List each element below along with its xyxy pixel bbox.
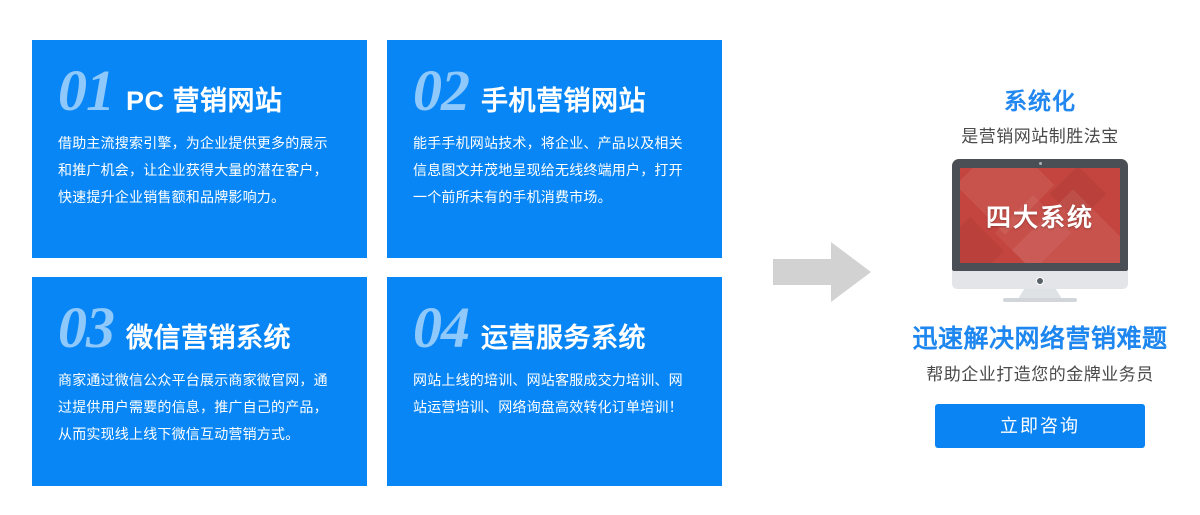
monitor-bezel: 四大系统 [952,159,1128,271]
feature-card-03[interactable]: 03 微信营销系统 商家通过微信公众平台展示商家微官网，通过提供用户需要的信息，… [32,277,367,486]
panel-title: 系统化 [880,90,1200,113]
feature-card-description: 借助主流搜索引擎，为企业提供更多的展示和推广机会，让企业获得大量的潜在客户，快速… [58,130,341,211]
promo-banner: 01 PC 营销网站 借助主流搜索引擎，为企业提供更多的展示和推广机会，让企业获… [0,0,1200,515]
feature-card-description: 能手手机网站技术，将企业、产品以及相关信息图文并茂地呈现给无线终端用户，打开一个… [413,130,696,211]
feature-card-title: 手机营销网站 [481,88,646,115]
feature-card-number: 02 [413,62,469,120]
webcam-icon [1039,162,1042,165]
monitor-screen: 四大系统 [960,168,1120,263]
monitor-logo-icon [1036,277,1044,285]
feature-card-header: 02 手机营销网站 [413,62,696,120]
feature-card-number: 01 [58,62,114,120]
feature-card-number: 04 [413,299,469,357]
feature-card-title: 运营服务系统 [481,325,646,352]
feature-card-header: 03 微信营销系统 [58,299,341,357]
feature-card-title: 微信营销系统 [126,325,291,352]
monitor-illustration-wrap: 四大系统 [880,159,1200,309]
consult-now-button[interactable]: 立即咨询 [935,404,1145,448]
feature-card-description: 商家通过微信公众平台展示商家微官网，通过提供用户需要的信息，推广自己的产品，从而… [58,367,341,448]
feature-card-number: 03 [58,299,114,357]
feature-card-description: 网站上线的培训、网站客服成交力培训、网站运营培训、网络询盘高效转化订单培训！ [413,367,696,421]
arrow-right-icon [773,242,871,302]
feature-card-header: 01 PC 营销网站 [58,62,341,120]
feature-cards-grid: 01 PC 营销网站 借助主流搜索引擎，为企业提供更多的展示和推广机会，让企业获… [32,40,722,486]
feature-card-header: 04 运营服务系统 [413,299,696,357]
feature-card-02[interactable]: 02 手机营销网站 能手手机网站技术，将企业、产品以及相关信息图文并茂地呈现给无… [387,40,722,258]
feature-card-title: PC 营销网站 [126,88,283,115]
feature-card-04[interactable]: 04 运营服务系统 网站上线的培训、网站客服成交力培训、网站运营培训、网络询盘高… [387,277,722,486]
monitor-stand-base [1003,298,1077,302]
right-panel: 系统化 是营销网站制胜法宝 四大系统 迅速解决网络营销难 [880,40,1200,486]
panel-subtitle: 是营销网站制胜法宝 [880,128,1200,145]
desktop-monitor-icon: 四大系统 [952,159,1128,301]
feature-card-01[interactable]: 01 PC 营销网站 借助主流搜索引擎，为企业提供更多的展示和推广机会，让企业获… [32,40,367,258]
panel-headline: 迅速解决网络营销难题 [880,327,1200,352]
monitor-screen-text: 四大系统 [986,198,1094,234]
panel-tagline: 帮助企业打造您的金牌业务员 [880,366,1200,383]
